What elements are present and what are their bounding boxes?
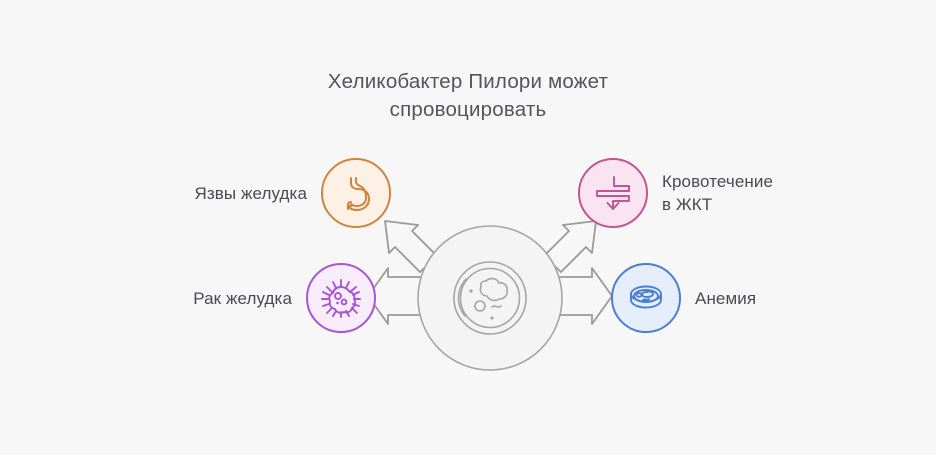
center-circle: [418, 226, 562, 370]
node-stomach-ulcers[interactable]: Язвы желудка: [155, 158, 391, 228]
petri-dish-blood-cells-icon: [624, 276, 668, 320]
cancer-cell-icon: [318, 275, 364, 321]
node-gi-bleeding[interactable]: Кровотечение в ЖКТ: [578, 158, 773, 228]
stomach-icon: [334, 171, 378, 215]
node-label-stomach-ulcers: Язвы желудка: [155, 182, 307, 205]
node-stomach-cancer[interactable]: Рак желудка: [148, 263, 376, 333]
node-label-gi-bleeding: Кровотечение в ЖКТ: [662, 170, 773, 216]
badge-stomach-cancer[interactable]: [306, 263, 376, 333]
node-anemia[interactable]: Анемия: [611, 263, 756, 333]
badge-gi-bleeding[interactable]: [578, 158, 648, 228]
diagram-stage: Язвы желудка Рак желудка: [0, 0, 936, 455]
badge-stomach-ulcers[interactable]: [321, 158, 391, 228]
center-node: [0, 0, 936, 455]
node-label-stomach-cancer: Рак желудка: [148, 287, 292, 310]
badge-anemia[interactable]: [611, 263, 681, 333]
node-label-anemia: Анемия: [695, 287, 756, 310]
bleeding-flow-arrow-icon: [593, 173, 633, 213]
infographic-root: Хеликобактер Пилори может спровоцировать: [0, 0, 936, 455]
